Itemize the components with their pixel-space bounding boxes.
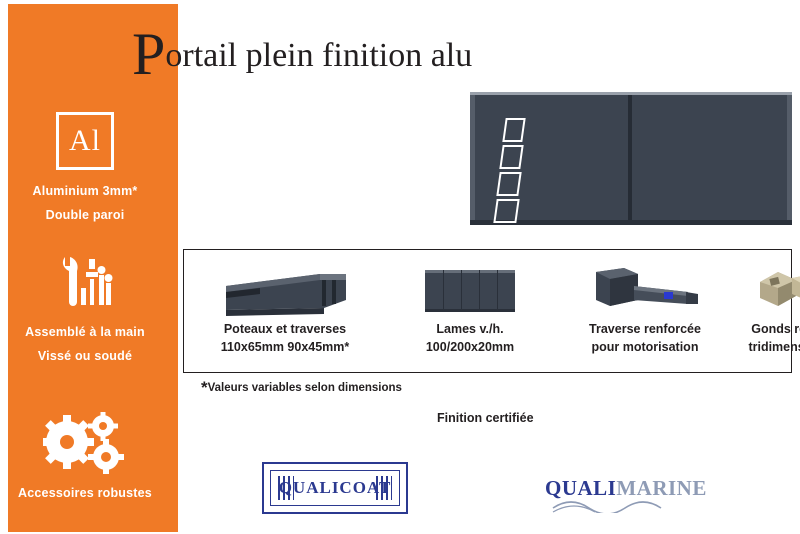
sidebar-label-visse-soude: Vissé ou soudé — [0, 345, 170, 369]
qualicoat-wordmark: QUALICOAT — [264, 478, 406, 498]
sidebar-block-assemblage: Assemblé à la main Vissé ou soudé — [0, 255, 170, 369]
gate-decor-square-3 — [496, 172, 521, 196]
sidebar-block-accessoires: Accessoires robustes — [0, 412, 170, 506]
component-caption-traverse-line1: Traverse renforcée — [560, 320, 730, 338]
gate-right-post — [787, 95, 792, 225]
footnote: *Valeurs variables selon dimensions — [201, 378, 402, 398]
sidebar-label-double-paroi: Double paroi — [0, 204, 170, 228]
qualimarine-wordmark-second: MARINE — [616, 476, 707, 500]
gate-left-post — [470, 95, 475, 225]
gate-center-mullion — [628, 95, 632, 225]
portail-plein-alu-image — [470, 92, 792, 225]
component-caption-gonds-line2: tridimensionnel — [730, 338, 800, 356]
component-gonds: Gonds réglage tridimensionnel — [730, 250, 800, 356]
component-caption-traverse-line2: pour motorisation — [560, 338, 730, 356]
component-caption-gonds-line1: Gonds réglage — [730, 320, 800, 338]
qualimarine-wordmark: QUALIMARINE — [545, 476, 707, 501]
sidebar-block-aluminium: Al Aluminium 3mm* Double paroi — [0, 112, 170, 228]
component-caption-poteaux-line2: 110x65mm 90x45mm* — [190, 338, 380, 356]
component-traverse-renforcee: Traverse renforcée pour motorisation — [560, 250, 730, 356]
component-caption-lames-line1: Lames v./h. — [380, 320, 560, 338]
footnote-text: Valeurs variables selon dimensions — [208, 382, 402, 394]
footnote-asterisk: * — [201, 378, 208, 397]
components-box: Poteaux et traverses 110x65mm 90x45mm* L… — [183, 249, 792, 373]
component-caption-lames-line2: 100/200x20mm — [380, 338, 560, 356]
page-title-rest: ortail plein finition alu — [165, 37, 472, 74]
gate-decor-square-4 — [493, 199, 519, 223]
gate-decor-square-1 — [502, 118, 525, 142]
qualicoat-logo: QUALICOAT — [262, 462, 408, 514]
qualimarine-logo: QUALIMARINE — [545, 468, 715, 510]
gears-icon — [43, 412, 127, 474]
component-caption-poteaux-line1: Poteaux et traverses — [190, 320, 380, 338]
component-poteaux-traverses: Poteaux et traverses 110x65mm 90x45mm* — [190, 250, 380, 356]
finition-certifiee-label: Finition certifiée — [437, 411, 534, 425]
gate-decor-square-2 — [499, 145, 523, 169]
gate-bottom-rail — [470, 220, 792, 225]
component-lames: Lames v./h. 100/200x20mm — [380, 250, 560, 356]
page-title-white-overlay: P — [132, 24, 165, 84]
sidebar-label-assemble-main: Assemblé à la main — [0, 321, 170, 345]
aluminium-symbol-label: Al — [69, 124, 101, 158]
poteau-profile-icon — [190, 258, 380, 320]
poster-page: Al Aluminium 3mm* Double paroi Assemblé … — [0, 0, 800, 534]
wrench-tools-icon — [53, 255, 117, 313]
sidebar-label-aluminium-thickness: Aluminium 3mm* — [0, 180, 170, 204]
page-title: Portail plein finition alu — [132, 24, 472, 84]
traverse-renforcee-icon — [560, 258, 730, 320]
sidebar-label-accessoires: Accessoires robustes — [0, 482, 170, 506]
gond-reglage-icon — [730, 258, 800, 320]
aluminium-square-icon: Al — [56, 112, 114, 170]
lames-panel-icon — [380, 258, 560, 320]
qualimarine-wave-icon — [551, 499, 701, 513]
qualimarine-wordmark-first: QUALI — [545, 476, 616, 500]
